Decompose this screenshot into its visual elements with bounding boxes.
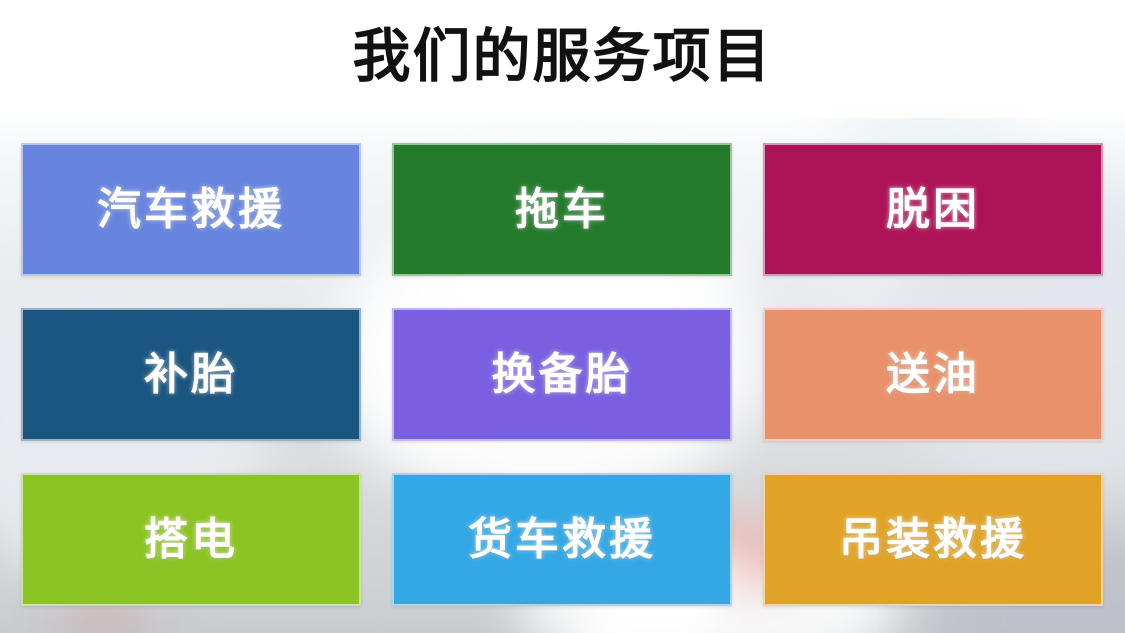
service-tile-truck-assistance[interactable]: 货车救援	[392, 473, 732, 606]
service-tile-label: 补胎	[144, 353, 238, 397]
service-tile-fuel-delivery[interactable]: 送油	[763, 308, 1103, 441]
service-tile-label: 货车救援	[468, 518, 656, 562]
service-tile-towing[interactable]: 拖车	[392, 143, 732, 276]
service-menu-page: 我们的服务项目 汽车救援 拖车 脱困 补胎 换备胎 送油 搭电 货车救援 吊装救…	[0, 0, 1125, 633]
service-tile-label: 送油	[886, 353, 980, 397]
service-tile-tire-repair[interactable]: 补胎	[21, 308, 361, 441]
header-band: 我们的服务项目	[0, 0, 1125, 118]
service-tile-label: 汽车救援	[97, 188, 285, 232]
service-tile-spare-tire-change[interactable]: 换备胎	[392, 308, 732, 441]
service-tile-grid: 汽车救援 拖车 脱困 补胎 换备胎 送油 搭电 货车救援 吊装救援	[21, 143, 1103, 605]
service-tile-extraction[interactable]: 脱困	[763, 143, 1103, 276]
service-tile-jump-start[interactable]: 搭电	[21, 473, 361, 606]
service-tile-label: 吊装救援	[839, 518, 1027, 562]
service-tile-label: 脱困	[886, 188, 980, 232]
service-tile-label: 拖车	[515, 188, 609, 232]
service-tile-label: 搭电	[144, 518, 238, 562]
service-tile-label: 换备胎	[492, 353, 633, 397]
service-tile-crane-lifting-rescue[interactable]: 吊装救援	[763, 473, 1103, 606]
page-title: 我们的服务项目	[0, 22, 1125, 92]
service-tile-roadside-assistance[interactable]: 汽车救援	[21, 143, 361, 276]
